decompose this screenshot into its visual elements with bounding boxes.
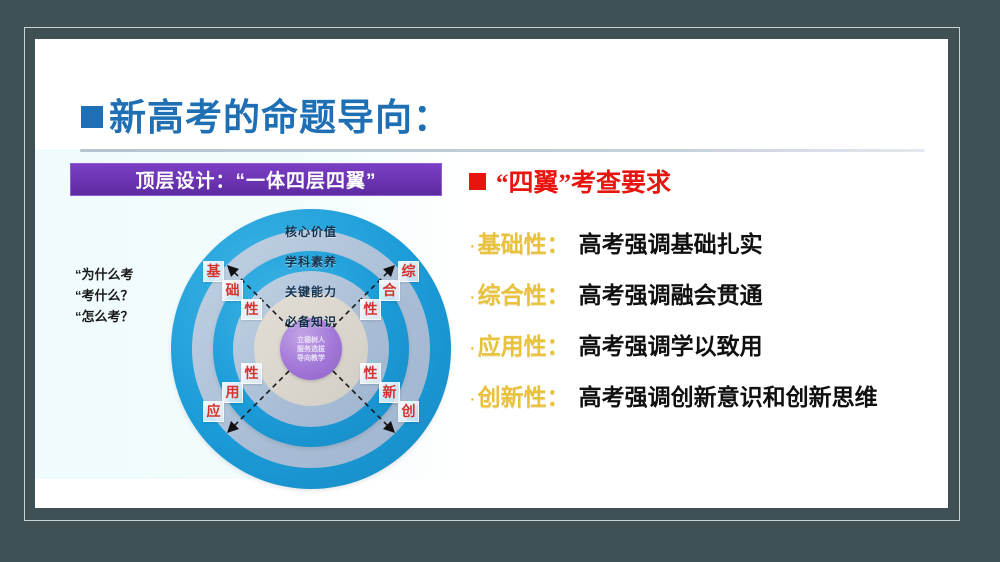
wing-innovative-char-2: 新 <box>379 382 400 403</box>
bullet-dot-icon: · <box>469 389 476 409</box>
wing-basic-char-1: 基 <box>203 261 224 282</box>
wing-innovative-char-3: 创 <box>398 401 419 422</box>
wing-comprehensive-char-1: 综 <box>398 261 419 282</box>
ring-label-knowledge: 必备知识 <box>285 313 337 330</box>
core-line-3: 导向教学 <box>297 354 325 363</box>
wing-comprehensive: 综 合 性 <box>345 261 419 335</box>
top-level-design-banner: 顶层设计：“一体四层四翼” <box>70 163 442 196</box>
list-item: · 综合性： 高考强调融会贯通 <box>465 276 935 310</box>
item-key-basic: 基础性： <box>478 225 570 259</box>
requirements-heading-text: “四翼”考查要求 <box>496 163 671 199</box>
title-divider <box>80 149 925 152</box>
heading-square-bullet-icon <box>469 173 486 190</box>
item-value-comprehensive: 高考强调融会贯通 <box>579 276 763 310</box>
list-item: · 基础性： 高考强调基础扎实 <box>465 225 935 259</box>
wing-basic-char-2: 础 <box>222 280 243 301</box>
item-key-innovative: 创新性： <box>478 378 570 412</box>
item-key-applied: 应用性： <box>478 327 570 361</box>
slide-surface: 新高考的命题导向： 顶层设计：“一体四层四翼” “为什么考 “考什么？ “怎么考… <box>35 39 948 508</box>
wing-applied-char-1: 性 <box>241 363 262 384</box>
wing-innovative-char-1: 性 <box>360 363 381 384</box>
item-value-applied: 高考强调学以致用 <box>579 327 763 361</box>
wing-basic: 基 础 性 <box>203 261 277 335</box>
ring-label-core-value: 核心价值 <box>285 223 337 240</box>
ring-label-key-ability: 关键能力 <box>285 283 337 300</box>
wing-innovative: 性 新 创 <box>345 363 419 437</box>
item-value-basic: 高考强调基础扎实 <box>579 225 763 259</box>
right-requirements-panel: “四翼”考查要求 · 基础性： 高考强调基础扎实 · 综合性： 高考强调融会贯通… <box>465 163 935 429</box>
wing-applied: 性 用 应 <box>203 363 277 437</box>
wing-comprehensive-char-2: 合 <box>379 280 400 301</box>
requirements-heading: “四翼”考查要求 <box>469 163 935 199</box>
item-value-innovative: 高考强调创新意识和创新思维 <box>579 378 878 412</box>
slide-stage: 新高考的命题导向： 顶层设计：“一体四层四翼” “为什么考 “考什么？ “怎么考… <box>0 0 1000 562</box>
list-item: · 应用性： 高考强调学以致用 <box>465 327 935 361</box>
bullet-dot-icon: · <box>469 338 476 358</box>
title-square-bullet-icon <box>81 106 103 128</box>
bullet-dot-icon: · <box>469 236 476 256</box>
wing-basic-char-3: 性 <box>241 299 262 320</box>
page-title-text: 新高考的命题导向： <box>109 87 451 141</box>
core-line-1: 立德树人 <box>297 336 325 345</box>
left-diagram-panel: 顶层设计：“一体四层四翼” “为什么考 “考什么？ “怎么考？ 立德树人 服务选… <box>61 163 461 493</box>
concentric-rings-diagram: 立德树人 服务选拔 导向教学 核心价值 学科素养 关键能力 必备知识 <box>171 209 451 489</box>
ring-label-literacy: 学科素养 <box>285 253 337 270</box>
wing-applied-char-3: 应 <box>203 401 224 422</box>
core-line-2: 服务选拔 <box>297 345 325 354</box>
banner-label: 顶层设计：“一体四层四翼” <box>135 166 376 193</box>
item-key-comprehensive: 综合性： <box>478 276 570 310</box>
wing-comprehensive-char-3: 性 <box>360 299 381 320</box>
bullet-dot-icon: · <box>469 287 476 307</box>
list-item: · 创新性： 高考强调创新意识和创新思维 <box>465 378 935 412</box>
wing-applied-char-2: 用 <box>222 382 243 403</box>
page-title: 新高考的命题导向： <box>81 87 451 141</box>
